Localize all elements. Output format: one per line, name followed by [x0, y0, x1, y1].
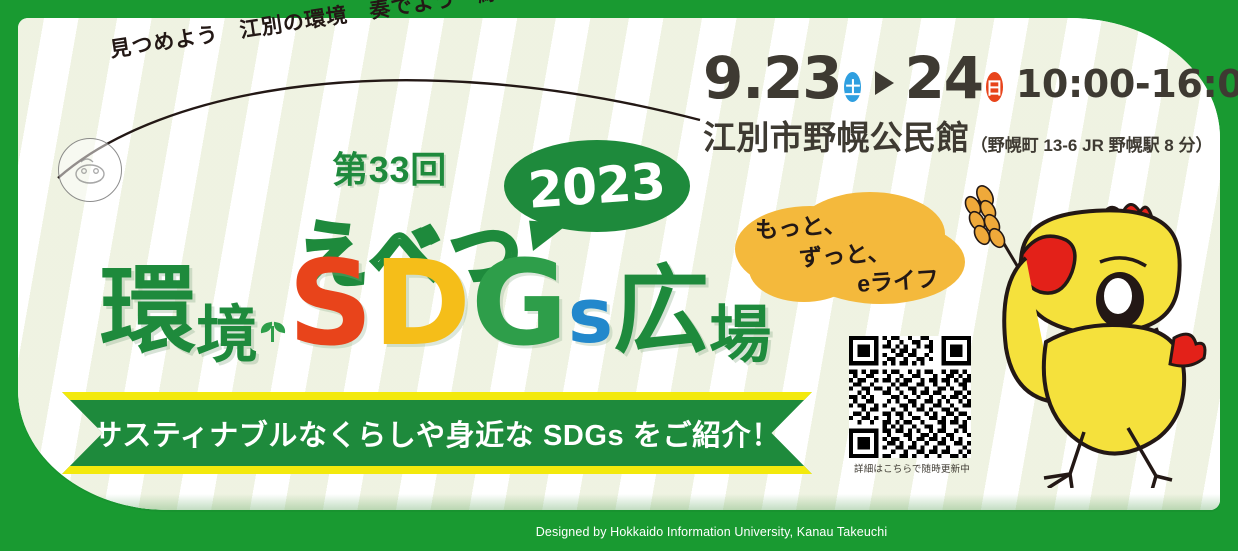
title-kanji-kan: 環	[100, 268, 196, 356]
venue-address: （野幌町 13-6 JR 野幌駅 8 分）	[971, 131, 1213, 156]
date-arrow-icon	[875, 71, 894, 95]
ribbon-shape: サスティナブルなくらしや身近な SDGs をご紹介！	[62, 392, 812, 474]
slogan-cloud-bubble: もっと、 ずっと、 eライフ	[735, 192, 967, 304]
ribbon-text: サスティナブルなくらしや身近な SDGs をご紹介！	[62, 392, 812, 474]
stamp-glyph-icon	[67, 147, 113, 193]
title-kanji-kyo: 境	[196, 307, 258, 364]
date-line: 9.23 土 24 日 10:00-16:00	[703, 52, 1183, 105]
sdgs-letter-s-small: s	[568, 282, 613, 350]
qr-block[interactable]: 詳細はこちらで随時更新中	[849, 336, 975, 475]
tail-feather-icon	[1170, 334, 1205, 366]
sdgs-letter-d: D	[373, 250, 471, 356]
sdgs-letter-s: S	[288, 250, 373, 356]
sprout-icon	[260, 302, 286, 342]
year-bubble: 2023	[504, 140, 690, 232]
chick-illustration-icon	[960, 178, 1210, 488]
schedule-block: 9.23 土 24 日 10:00-16:00 江別市野幌公民館 （野幌町 13…	[703, 52, 1183, 159]
poster-root: 見つめよう 江別の環境 奏でよう 緑のシンフォニー 9.23 土 24 日 10…	[0, 0, 1238, 551]
qr-code-icon[interactable]	[849, 336, 971, 458]
tagline-ribbon: サスティナブルなくらしや身近な SDGs をご紹介！	[62, 392, 812, 474]
title-kanji-hiro: 広	[613, 268, 709, 356]
cloud-text-group: もっと、 ずっと、 eライフ	[735, 192, 967, 304]
venue-name: 江別市野幌公民館	[703, 111, 970, 159]
main-title-row: 環 境 S D G s 広 場	[100, 250, 771, 356]
cloud-line-3: eライフ	[856, 259, 940, 299]
eco-stamp-icon	[58, 138, 122, 202]
wheat-icon	[962, 183, 1022, 274]
chick-mascot	[960, 178, 1210, 488]
design-credit: Designed by Hokkaido Information Univers…	[0, 525, 1238, 539]
year-bubble-text: 2023	[527, 152, 668, 219]
leaf-bottom-shade	[18, 494, 1220, 510]
sdgs-letter-g: G	[471, 250, 568, 356]
date-first: 9.23	[703, 52, 841, 105]
title-kanji-ba: 場	[709, 307, 771, 364]
event-time: 10:00-16:00	[1016, 62, 1238, 106]
day-badge-sunday: 日	[986, 72, 1003, 102]
date-second: 24	[904, 52, 982, 105]
qr-caption: 詳細はこちらで随時更新中	[849, 461, 975, 475]
day-badge-saturday: 土	[844, 72, 861, 102]
venue-line: 江別市野幌公民館 （野幌町 13-6 JR 野幌駅 8 分）	[703, 111, 1183, 159]
body-shape	[1044, 325, 1184, 453]
edition-label: 第33回	[332, 141, 447, 193]
